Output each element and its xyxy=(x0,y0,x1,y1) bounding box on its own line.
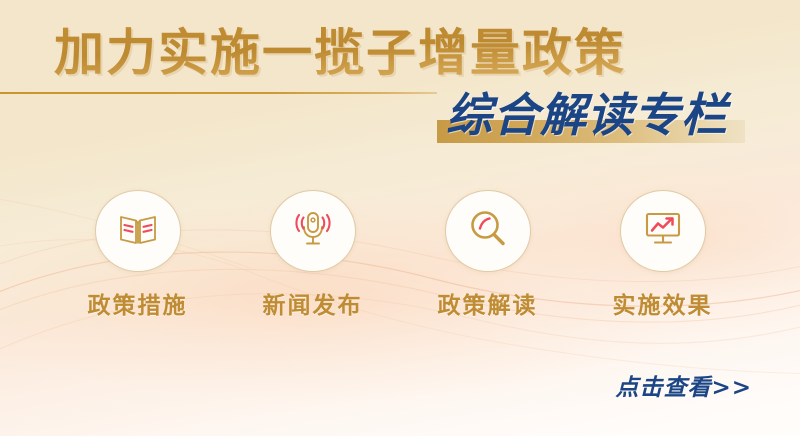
open-book-icon xyxy=(118,211,158,252)
nav-item-label: 政策措施 xyxy=(88,286,188,320)
nav-item-label: 政策解读 xyxy=(438,286,538,320)
category-nav: 政策措施 新闻发布 xyxy=(0,190,800,320)
nav-item-policy-interpretation[interactable]: 政策解读 xyxy=(400,190,575,320)
nav-item-label: 新闻发布 xyxy=(263,286,363,320)
nav-item-implementation-effect[interactable]: 实施效果 xyxy=(575,190,750,320)
click-to-view-link[interactable]: 点击查看>> xyxy=(615,368,752,402)
policy-banner: 加力实施一揽子增量政策 加力实施一揽子增量政策 综合解读专栏 xyxy=(0,0,800,436)
page-subtitle: 综合解读专栏 xyxy=(446,86,786,144)
nav-icon-circle[interactable] xyxy=(270,190,356,272)
nav-item-policy-measures[interactable]: 政策措施 xyxy=(50,190,225,320)
nav-icon-circle[interactable] xyxy=(620,190,706,272)
microphone-icon xyxy=(291,208,335,255)
chart-board-icon xyxy=(642,209,684,254)
title-divider-rule xyxy=(0,92,437,94)
nav-item-label: 实施效果 xyxy=(613,286,713,320)
page-title: 加力实施一揽子增量政策 xyxy=(54,18,754,88)
nav-icon-circle[interactable] xyxy=(445,190,531,272)
nav-item-news-release[interactable]: 新闻发布 xyxy=(225,190,400,320)
nav-icon-circle[interactable] xyxy=(95,190,181,272)
magnifier-icon xyxy=(467,208,509,255)
